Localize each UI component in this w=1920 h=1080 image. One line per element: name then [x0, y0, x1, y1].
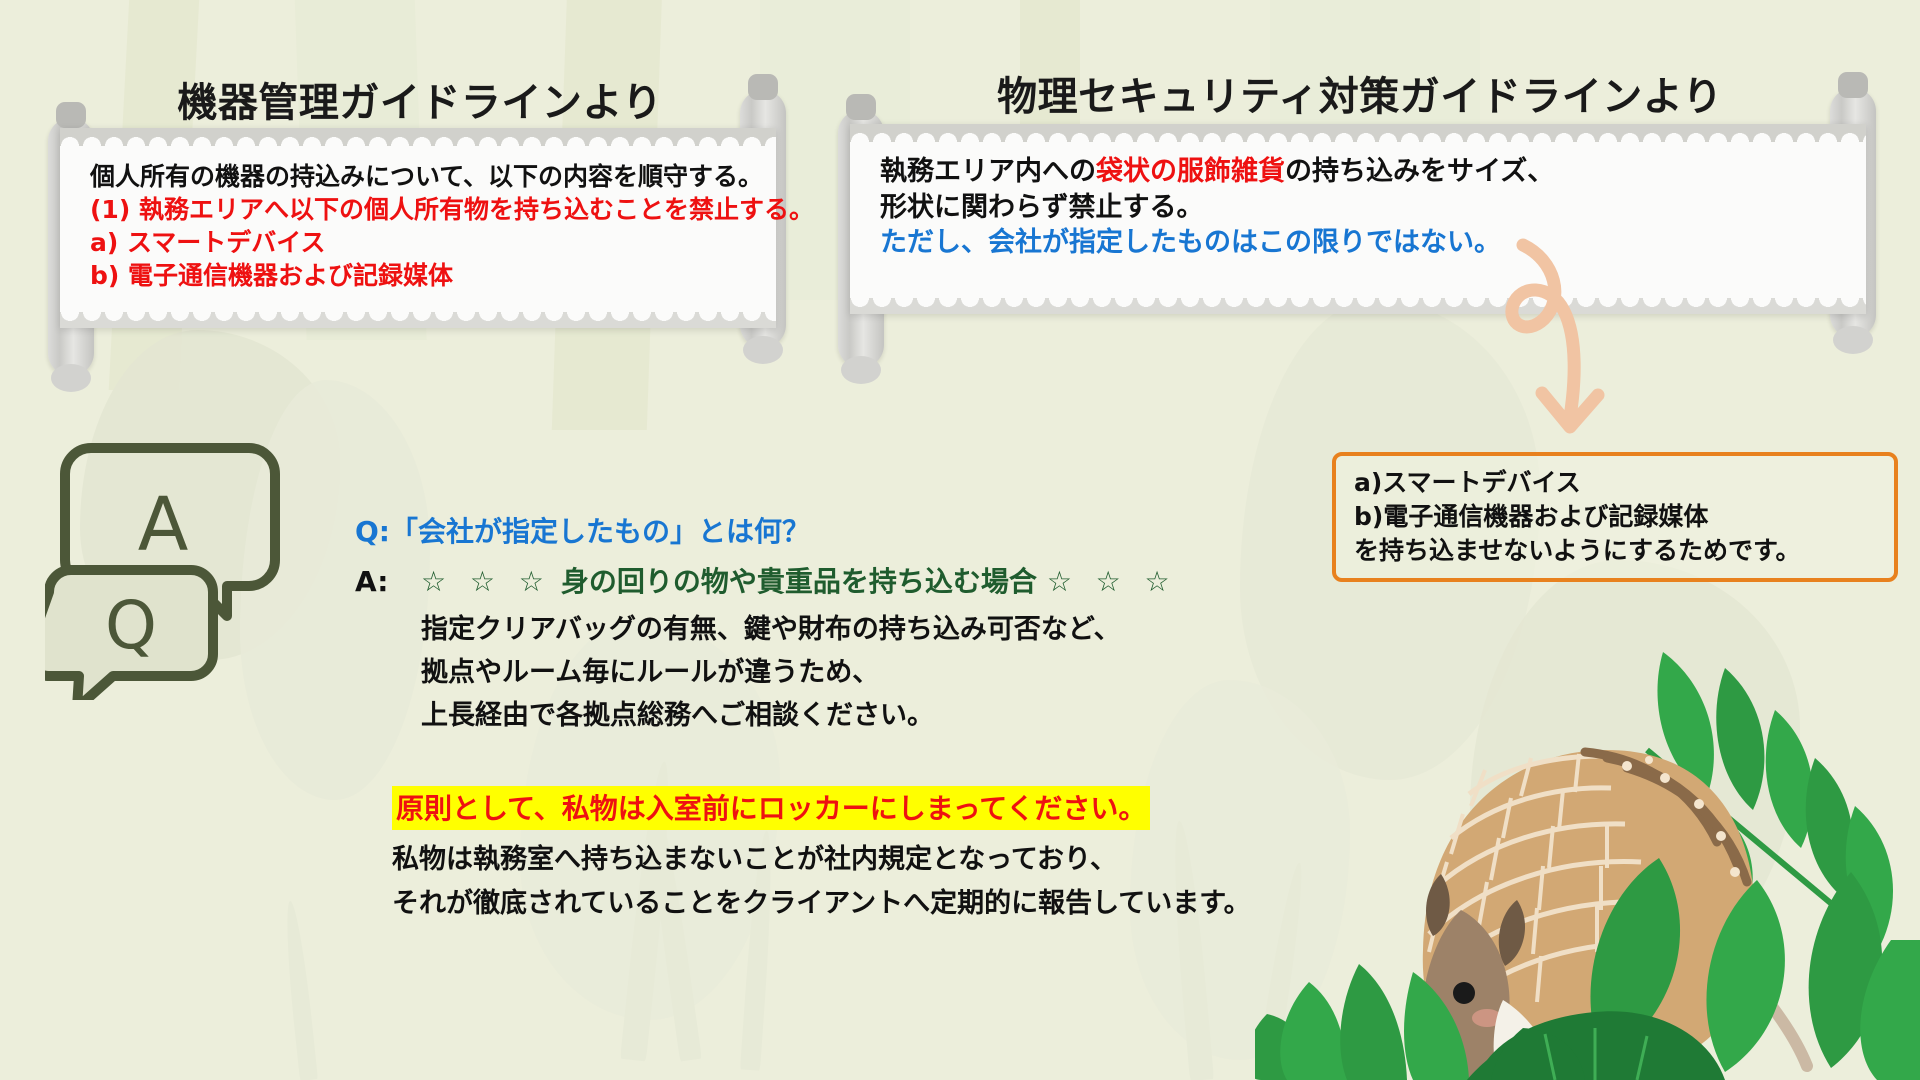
- roller-knob: [1838, 72, 1868, 98]
- scroll-right-line-1-part1: 執務エリア内への: [880, 156, 1096, 187]
- scroll-left-title: 機器管理ガイドラインより: [40, 70, 800, 128]
- scroll-physical-security-guideline: 物理セキュリティ対策ガイドラインより 執務エリア内への袋状の服飾雑貨の持ち込みを…: [830, 52, 1890, 352]
- bg-grass-blade: [281, 900, 318, 1080]
- scroll-left-line-2: (1) 執務エリアへ以下の個人所有物を持ち込むことを禁止する。: [90, 193, 766, 226]
- roller-knob: [748, 74, 778, 100]
- reason-callout-box: a)スマートデバイス b)電子通信機器および記録媒体 を持ち込ませないようにする…: [1332, 452, 1898, 582]
- qa-detail-line-1: 指定クリアバッグの有無、鍵や財布の持ち込み可否など、: [355, 608, 1355, 651]
- notice-line-1: 私物は執務室へ持ち込まないことが社内規定となっており、: [392, 838, 1392, 882]
- qa-answer-main: 身の回りの物や貴重品を持ち込む場合: [561, 560, 1037, 600]
- scroll-left-paper: 個人所有の機器の持込みについて、以下の内容を順守する。 (1) 執務エリアへ以下…: [60, 128, 776, 328]
- notice-line-2: それが徹底されていることをクライアントへ定期的に報告しています。: [392, 882, 1392, 926]
- scroll-right-line-1-highlight: 袋状の服飾雑貨: [1096, 156, 1285, 187]
- roller-knob: [56, 102, 86, 128]
- qa-bubble-letter-q: Q: [105, 587, 157, 664]
- armadillo-illustration: [1255, 610, 1920, 1080]
- notice-block: 原則として、私物は入室前にロッカーにしまってください。 私物は執務室へ持ち込まな…: [392, 786, 1392, 925]
- stars-left-icon: ☆ ☆ ☆: [421, 565, 551, 598]
- qa-answer-row: A: ☆ ☆ ☆ 身の回りの物や貴重品を持ち込む場合 ☆ ☆ ☆: [355, 560, 1355, 600]
- paper-torn-top: [850, 124, 1866, 142]
- scroll-left-line-3: a) スマートデバイス: [90, 226, 766, 259]
- scroll-right-line-2: 形状に関わらず禁止する。: [880, 190, 1856, 226]
- paper-torn-bottom: [850, 298, 1866, 314]
- qa-answer-label: A:: [355, 565, 421, 598]
- qa-detail-line-2: 拠点やルーム毎にルールが違うため、: [355, 651, 1355, 694]
- scroll-right-line-3: ただし、会社が指定したものはこの限りではない。: [880, 225, 1856, 261]
- scroll-right-line-1: 執務エリア内への袋状の服飾雑貨の持ち込みをサイズ、: [880, 154, 1856, 190]
- stars-right-icon: ☆ ☆ ☆: [1047, 565, 1177, 598]
- callout-line-1: a)スマートデバイス: [1354, 466, 1878, 500]
- armadillo-eye: [1453, 982, 1475, 1004]
- qa-text-block: Q:「会社が指定したもの」とは何？ A: ☆ ☆ ☆ 身の回りの物や貴重品を持ち…: [355, 510, 1355, 738]
- paper-torn-bottom: [60, 312, 776, 328]
- scroll-right-body: 執務エリア内への袋状の服飾雑貨の持ち込みをサイズ、 形状に関わらず禁止する。 た…: [880, 154, 1856, 261]
- paper-torn-top: [60, 128, 776, 146]
- roller-foot: [51, 364, 91, 392]
- scroll-equipment-guideline: 機器管理ガイドラインより 個人所有の機器の持込みについて、以下の内容を順守する。…: [40, 60, 800, 360]
- slide-canvas: 機器管理ガイドラインより 個人所有の機器の持込みについて、以下の内容を順守する。…: [0, 0, 1920, 1080]
- roller-foot: [743, 336, 783, 364]
- callout-line-2: b)電子通信機器および記録媒体: [1354, 500, 1878, 534]
- scroll-right-paper: 執務エリア内への袋状の服飾雑貨の持ち込みをサイズ、 形状に関わらず禁止する。 た…: [850, 124, 1866, 314]
- scroll-right-title: 物理セキュリティ対策ガイドラインより: [830, 64, 1890, 122]
- notice-highlight: 原則として、私物は入室前にロッカーにしまってください。: [392, 786, 1150, 830]
- qa-question: Q:「会社が指定したもの」とは何？: [355, 510, 1355, 550]
- callout-line-3: を持ち込ませないようにするためです。: [1354, 534, 1878, 568]
- curved-down-arrow-icon: [1460, 235, 1660, 445]
- qa-bubble-letter-a: A: [138, 482, 189, 568]
- qa-detail-line-3: 上長経由で各拠点総務へご相談ください。: [355, 694, 1355, 737]
- roller-knob: [846, 94, 876, 120]
- scroll-left-line-4: b) 電子通信機器および記録媒体: [90, 259, 766, 292]
- roller-foot: [1833, 326, 1873, 354]
- scroll-right-line-1-part2: の持ち込みをサイズ、: [1285, 156, 1554, 187]
- qa-speech-bubble-icon: A Q: [45, 440, 290, 700]
- roller-foot: [841, 356, 881, 384]
- scroll-left-line-1: 個人所有の機器の持込みについて、以下の内容を順守する。: [90, 160, 766, 193]
- scroll-left-body: 個人所有の機器の持込みについて、以下の内容を順守する。 (1) 執務エリアへ以下…: [90, 160, 766, 292]
